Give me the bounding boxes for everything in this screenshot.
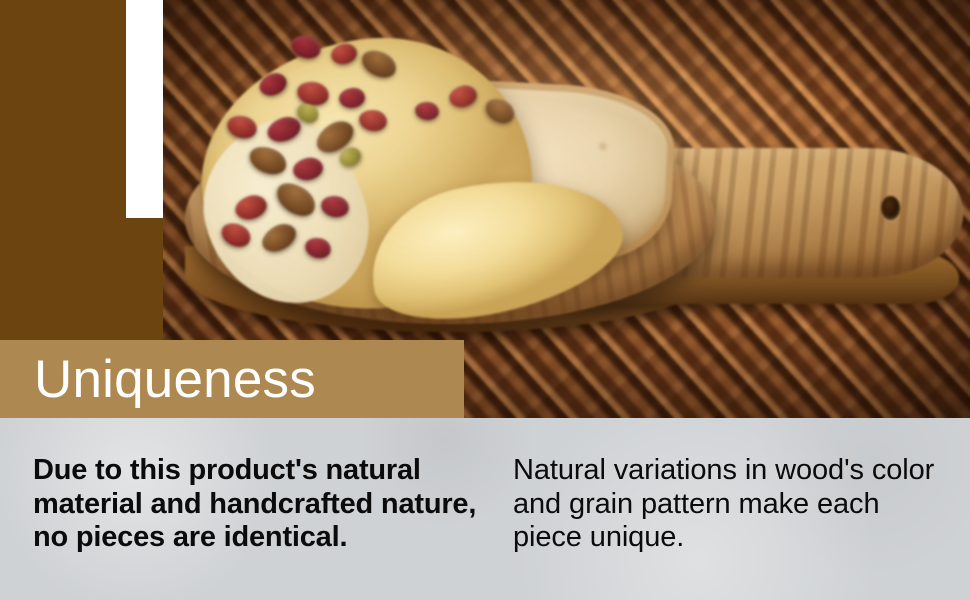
description-right: Natural variations in wood's color and g…	[513, 454, 943, 555]
handle-hanging-hole	[881, 196, 900, 220]
page-title: Uniqueness	[0, 353, 316, 406]
uniqueness-banner: Uniqueness Due to this product's natural…	[0, 0, 970, 600]
white-notch-accent	[126, 0, 163, 218]
description-left: Due to this product's natural material a…	[33, 454, 488, 555]
title-band: Uniqueness	[0, 340, 464, 418]
description-section: Due to this product's natural material a…	[0, 418, 970, 600]
